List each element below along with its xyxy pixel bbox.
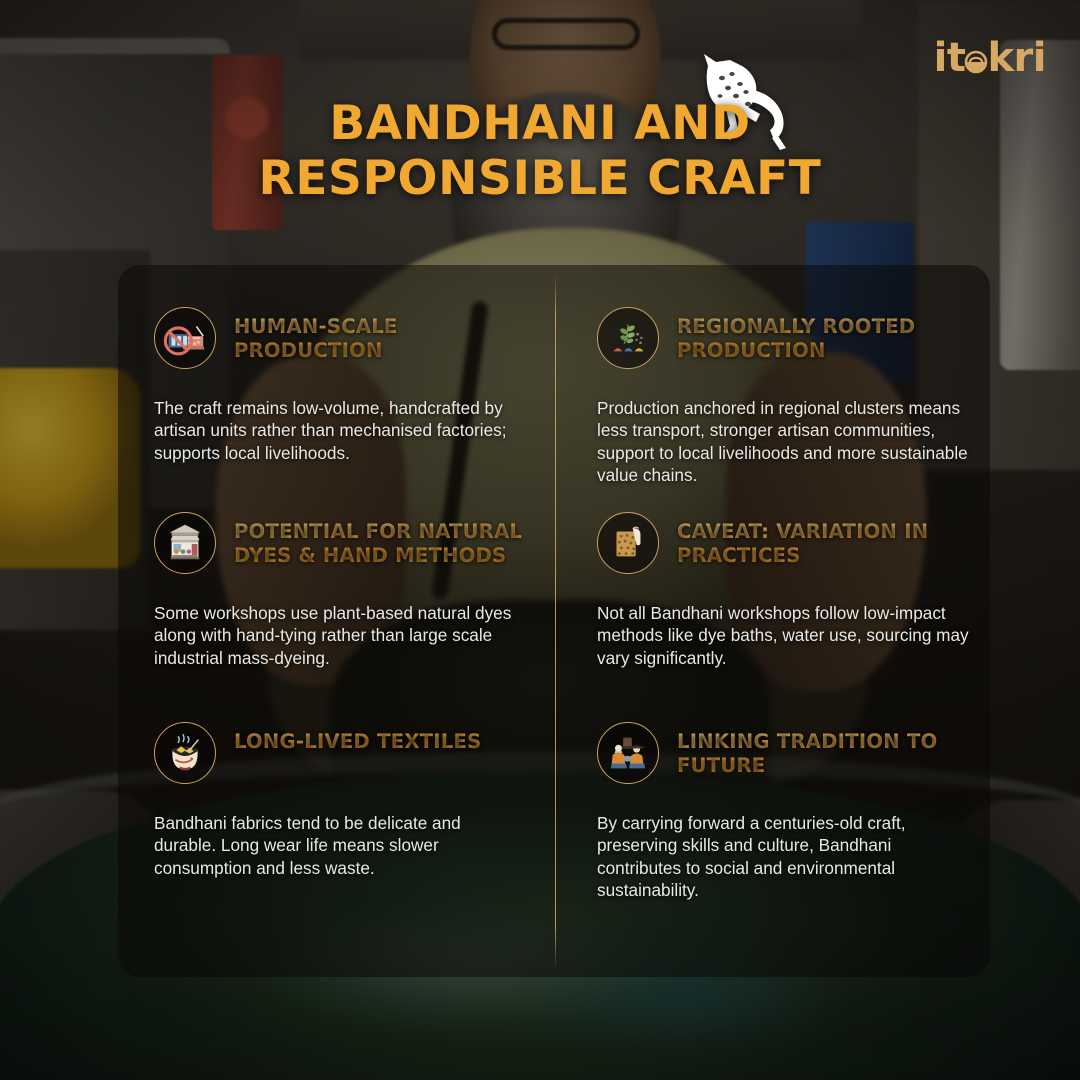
card-title: POTENTIAL FOR NATURAL DYES & HAND METHOD… <box>234 510 525 568</box>
card-grid: HUMAN-SCALE PRODUCTION The craft remains… <box>118 265 990 977</box>
card-long-lived-textiles[interactable]: LONG-LIVED TEXTILES Bandhani fabrics ten… <box>118 680 555 977</box>
card-title: LONG-LIVED TEXTILES <box>234 720 482 754</box>
logo-text-part-1: it <box>934 35 966 81</box>
card-header: POTENTIAL FOR NATURAL DYES & HAND METHOD… <box>154 510 525 574</box>
card-human-scale-production[interactable]: HUMAN-SCALE PRODUCTION The craft remains… <box>118 265 555 470</box>
card-caveat-variation[interactable]: CAVEAT: VARIATION IN PRACTICES Not all B… <box>555 470 990 680</box>
header: it kri <box>0 0 1080 265</box>
card-title: CAVEAT: VARIATION IN PRACTICES <box>677 510 976 568</box>
card-body: Not all Bandhani workshops follow low-im… <box>597 602 976 669</box>
workshop-storefront-icon <box>154 512 216 574</box>
card-header: LONG-LIVED TEXTILES <box>154 720 525 784</box>
two-artisans-icon <box>597 722 659 784</box>
card-header: REGIONALLY ROOTED PRODUCTION <box>597 305 976 369</box>
page-title: BANDHANI AND RESPONSIBLE CRAFT <box>0 96 1080 207</box>
logo-text-part-2: kri <box>987 35 1046 81</box>
card-header: HUMAN-SCALE PRODUCTION <box>154 305 525 369</box>
card-body: Some workshops use plant-based natural d… <box>154 602 525 669</box>
page-title-line-2: RESPONSIBLE CRAFT <box>0 151 1080 206</box>
basket-icon <box>964 50 988 74</box>
card-potential-natural-dyes[interactable]: POTENTIAL FOR NATURAL DYES & HAND METHOD… <box>118 470 555 680</box>
card-header: LINKING TRADITION TO FUTURE <box>597 720 976 784</box>
card-title: REGIONALLY ROOTED PRODUCTION <box>677 305 976 363</box>
card-body: The craft remains low-volume, handcrafte… <box>154 397 525 464</box>
page-title-line-1: BANDHANI AND <box>0 96 1080 151</box>
card-title: HUMAN-SCALE PRODUCTION <box>234 305 525 363</box>
seedling-soil-icon <box>597 307 659 369</box>
card-body: By carrying forward a centuries-old craf… <box>597 812 976 901</box>
steaming-dye-pot-icon <box>154 722 216 784</box>
content-panel: HUMAN-SCALE PRODUCTION The craft remains… <box>118 265 990 977</box>
card-body: Bandhani fabrics tend to be delicate and… <box>154 812 525 879</box>
itokri-logo[interactable]: it kri <box>934 38 1046 78</box>
no-factory-icon <box>154 307 216 369</box>
hand-holding-fabric-icon <box>597 512 659 574</box>
card-linking-tradition-future[interactable]: LINKING TRADITION TO FUTURE By carrying … <box>555 680 990 977</box>
card-header: CAVEAT: VARIATION IN PRACTICES <box>597 510 976 574</box>
card-regionally-rooted-production[interactable]: REGIONALLY ROOTED PRODUCTION Production … <box>555 265 990 470</box>
card-title: LINKING TRADITION TO FUTURE <box>677 720 976 778</box>
